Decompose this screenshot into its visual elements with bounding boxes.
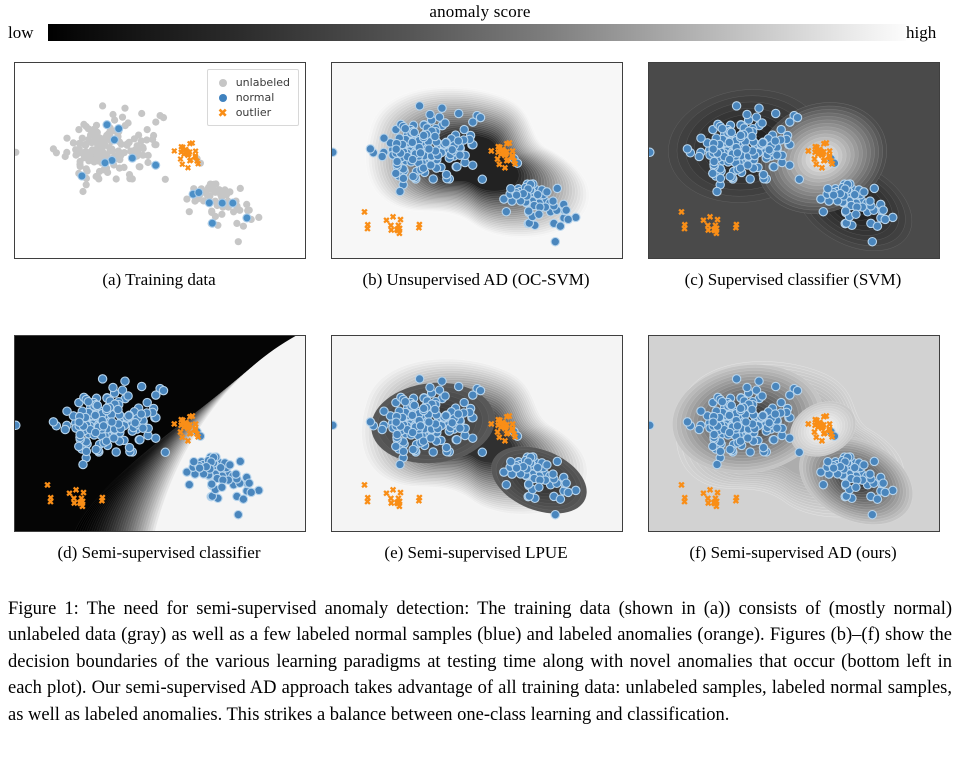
panel-d-contour xyxy=(15,336,305,531)
legend-label-outlier: outlier xyxy=(236,105,271,120)
colorbar-high-label: high xyxy=(906,23,936,43)
figure-1: anomaly score low high unlabeled normal … xyxy=(0,0,960,760)
caption-panel-f: (f) Semi-supervised AD (ours) xyxy=(648,543,938,563)
legend-item-outlier: ✖ outlier xyxy=(214,105,290,120)
panel-b-unsupervised-ad xyxy=(331,62,623,259)
panel-e-semi-supervised-lpue xyxy=(331,335,623,532)
panel-d-semi-supervised-classifier xyxy=(14,335,306,532)
scatter-legend: unlabeled normal ✖ outlier xyxy=(207,69,299,126)
panel-e-contour xyxy=(332,336,622,531)
colorbar-title: anomaly score xyxy=(0,2,960,22)
panel-f-contour xyxy=(649,336,939,531)
figure-caption: Figure 1: The need for semi-supervised a… xyxy=(8,596,952,728)
legend-label-unlabeled: unlabeled xyxy=(236,75,290,90)
caption-panel-a: (a) Training data xyxy=(14,270,304,290)
caption-panel-e: (e) Semi-supervised LPUE xyxy=(331,543,621,563)
legend-label-normal: normal xyxy=(236,90,275,105)
legend-item-normal: normal xyxy=(214,90,290,105)
outlier-x-icon: ✖ xyxy=(214,107,232,119)
panel-c-supervised-classifier xyxy=(648,62,940,259)
unlabeled-dot-icon xyxy=(214,75,232,90)
caption-panel-d: (d) Semi-supervised classifier xyxy=(14,543,304,563)
panel-f-semi-supervised-ad xyxy=(648,335,940,532)
legend-item-unlabeled: unlabeled xyxy=(214,75,290,90)
panel-a-training-data: unlabeled normal ✖ outlier xyxy=(14,62,306,259)
colorbar-low-label: low xyxy=(8,23,34,43)
colorbar-gradient xyxy=(48,24,906,41)
panel-c-contour xyxy=(649,63,939,258)
normal-dot-icon xyxy=(214,90,232,105)
caption-panel-b: (b) Unsupervised AD (OC-SVM) xyxy=(331,270,621,290)
colorbar: low high xyxy=(0,22,960,44)
caption-panel-c: (c) Supervised classifier (SVM) xyxy=(648,270,938,290)
panel-b-contour xyxy=(332,63,622,258)
